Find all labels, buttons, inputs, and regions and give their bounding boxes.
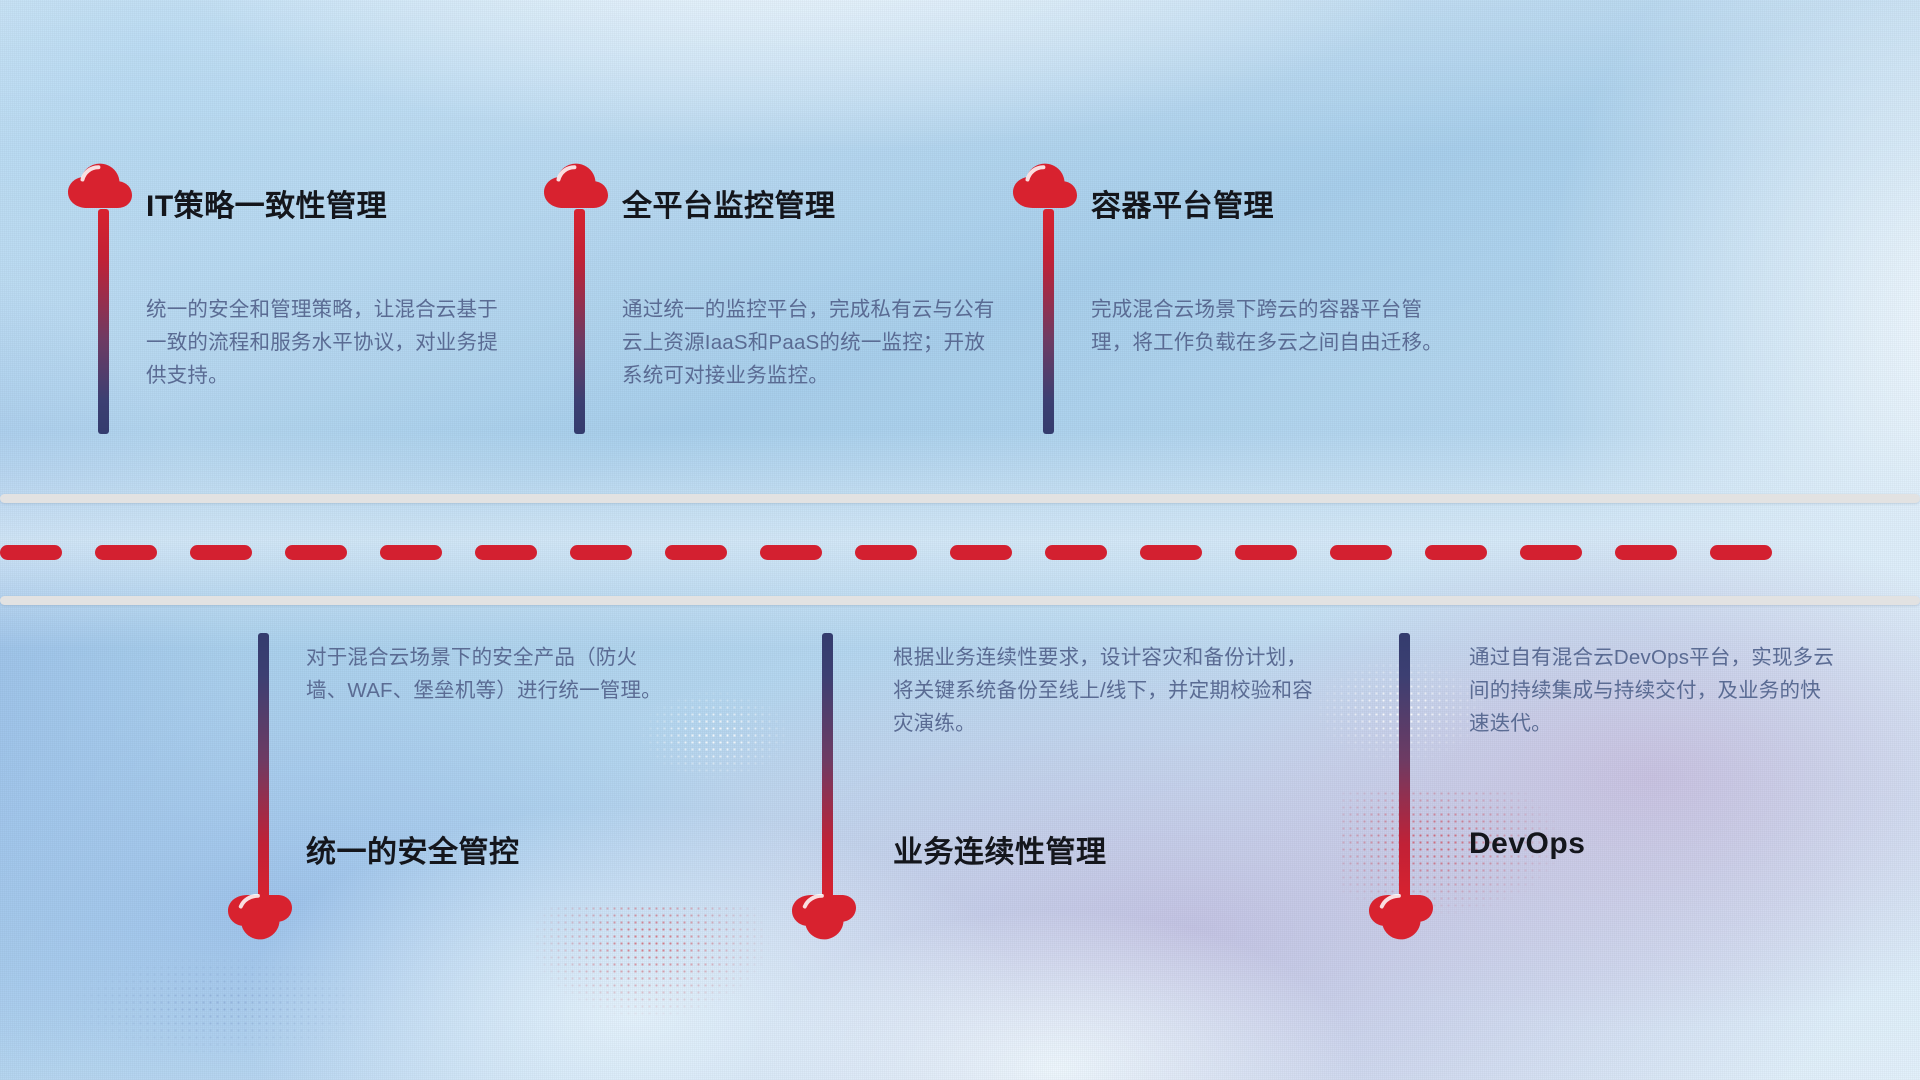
divider-dash [1710, 545, 1772, 560]
top-column-2-title: 全平台监控管理 [622, 181, 836, 225]
bottom-column-2-body: 根据业务连续性要求，设计容灾和备份计划，将关键系统备份至线上/线下，并定期校验和… [893, 641, 1317, 740]
bottom-column-3-title: DevOps [1469, 827, 1585, 861]
timeline-stem [98, 209, 109, 434]
divider-dash [1045, 545, 1107, 560]
divider-dashed-line [0, 545, 1920, 560]
divider-dash [665, 545, 727, 560]
divider-dash [1330, 545, 1392, 560]
bottom-column-1-title: 统一的安全管控 [306, 827, 520, 871]
top-column-1-body: 统一的安全和管理策略，让混合云基于一致的流程和服务水平协议，对业务提供支持。 [146, 293, 502, 392]
divider-rail-bottom [0, 596, 1920, 605]
top-column-3-title: 容器平台管理 [1091, 181, 1274, 225]
timeline-stem [1043, 209, 1054, 434]
bottom-column-2 [822, 633, 857, 940]
divider-rail-top [0, 494, 1920, 503]
divider-dash [1520, 545, 1582, 560]
cloud-icon [1368, 894, 1434, 940]
divider-dash [1235, 545, 1297, 560]
timeline-stem [574, 209, 585, 434]
top-column-2-body: 通过统一的监控平台，完成私有云与公有云上资源IaaS和PaaS的统一监控；开放系… [622, 293, 1004, 392]
divider-dash [950, 545, 1012, 560]
divider-dash [475, 545, 537, 560]
bottom-column-3-body: 通过自有混合云DevOps平台，实现多云间的持续集成与持续交付，及业务的快速迭代… [1469, 641, 1841, 740]
divider-dash [380, 545, 442, 560]
bottom-column-1-body: 对于混合云场景下的安全产品（防火墙、WAF、堡垒机等）进行统一管理。 [306, 641, 674, 707]
top-column-3 [1043, 163, 1078, 434]
cloud-icon [67, 163, 133, 209]
divider-dash [855, 545, 917, 560]
top-column-1-title: IT策略一致性管理 [146, 181, 387, 225]
cloud-icon [791, 894, 857, 940]
cloud-icon [1012, 163, 1078, 209]
timeline-stem [258, 633, 269, 898]
bottom-column-3 [1399, 633, 1434, 940]
bottom-column-2-title: 业务连续性管理 [893, 827, 1107, 871]
divider-dash [1615, 545, 1677, 560]
cloud-icon [543, 163, 609, 209]
top-column-3-body: 完成混合云场景下跨云的容器平台管理，将工作负载在多云之间自由迁移。 [1091, 293, 1463, 359]
divider-dash [760, 545, 822, 560]
divider-dash [0, 545, 62, 560]
bottom-column-1 [258, 633, 293, 940]
divider-dash [285, 545, 347, 560]
divider-dash [190, 545, 252, 560]
divider-dash [95, 545, 157, 560]
top-column-2 [574, 163, 609, 434]
timeline-stem [822, 633, 833, 898]
top-column-1 [98, 163, 133, 434]
cloud-icon [227, 894, 293, 940]
timeline-stem [1399, 633, 1410, 898]
divider-dash [570, 545, 632, 560]
divider-dash [1140, 545, 1202, 560]
divider-dash [1425, 545, 1487, 560]
